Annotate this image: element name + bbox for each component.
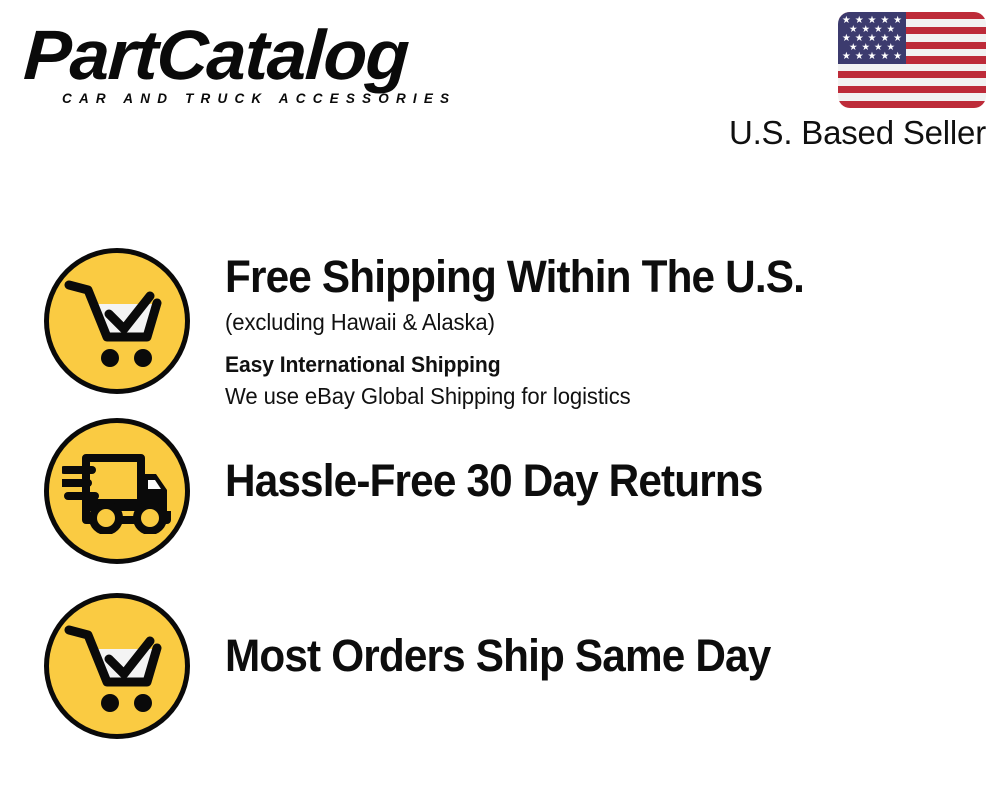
delivery-truck-icon [44,418,190,564]
feature-subtitle-exclusions: (excluding Hawaii & Alaska) [225,308,969,337]
feature-title: Hassle-Free 30 Day Returns [225,458,954,504]
feature-item-returns: Hassle-Free 30 Day Returns [0,418,1000,564]
brand-wordmark: PartCatalog [22,22,505,89]
feature-subtitle-logistics: We use eBay Global Shipping for logistic… [225,382,969,411]
shopping-cart-check-icon [44,248,190,394]
feature-item-same-day-shipping: Most Orders Ship Same Day [0,593,1000,739]
feature-text-block: Free Shipping Within The U.S. (excluding… [225,248,1000,411]
feature-text-block: Hassle-Free 30 Day Returns [225,418,1000,504]
feature-item-free-shipping: Free Shipping Within The U.S. (excluding… [0,248,1000,411]
flag-canton: ★★★★★ ★★★★ ★★★★★ ★★★★ ★★★★★ [838,12,906,64]
shopping-cart-check-icon [44,593,190,739]
page-header: PartCatalog CAR AND TRUCK ACCESSORIES [0,0,1000,175]
us-flag-icon: ★★★★★ ★★★★ ★★★★★ ★★★★ ★★★★★ [838,12,986,108]
us-based-seller-badge: ★★★★★ ★★★★ ★★★★★ ★★★★ ★★★★★ U.S. Based S… [729,12,986,151]
feature-title: Most Orders Ship Same Day [225,633,954,679]
feature-text-block: Most Orders Ship Same Day [225,593,1000,679]
feature-subtitle-international: Easy International Shipping [225,351,969,379]
us-based-seller-label: U.S. Based Seller [729,115,986,151]
feature-title: Free Shipping Within The U.S. [225,254,954,300]
brand-logo[interactable]: PartCatalog CAR AND TRUCK ACCESSORIES [24,22,494,106]
